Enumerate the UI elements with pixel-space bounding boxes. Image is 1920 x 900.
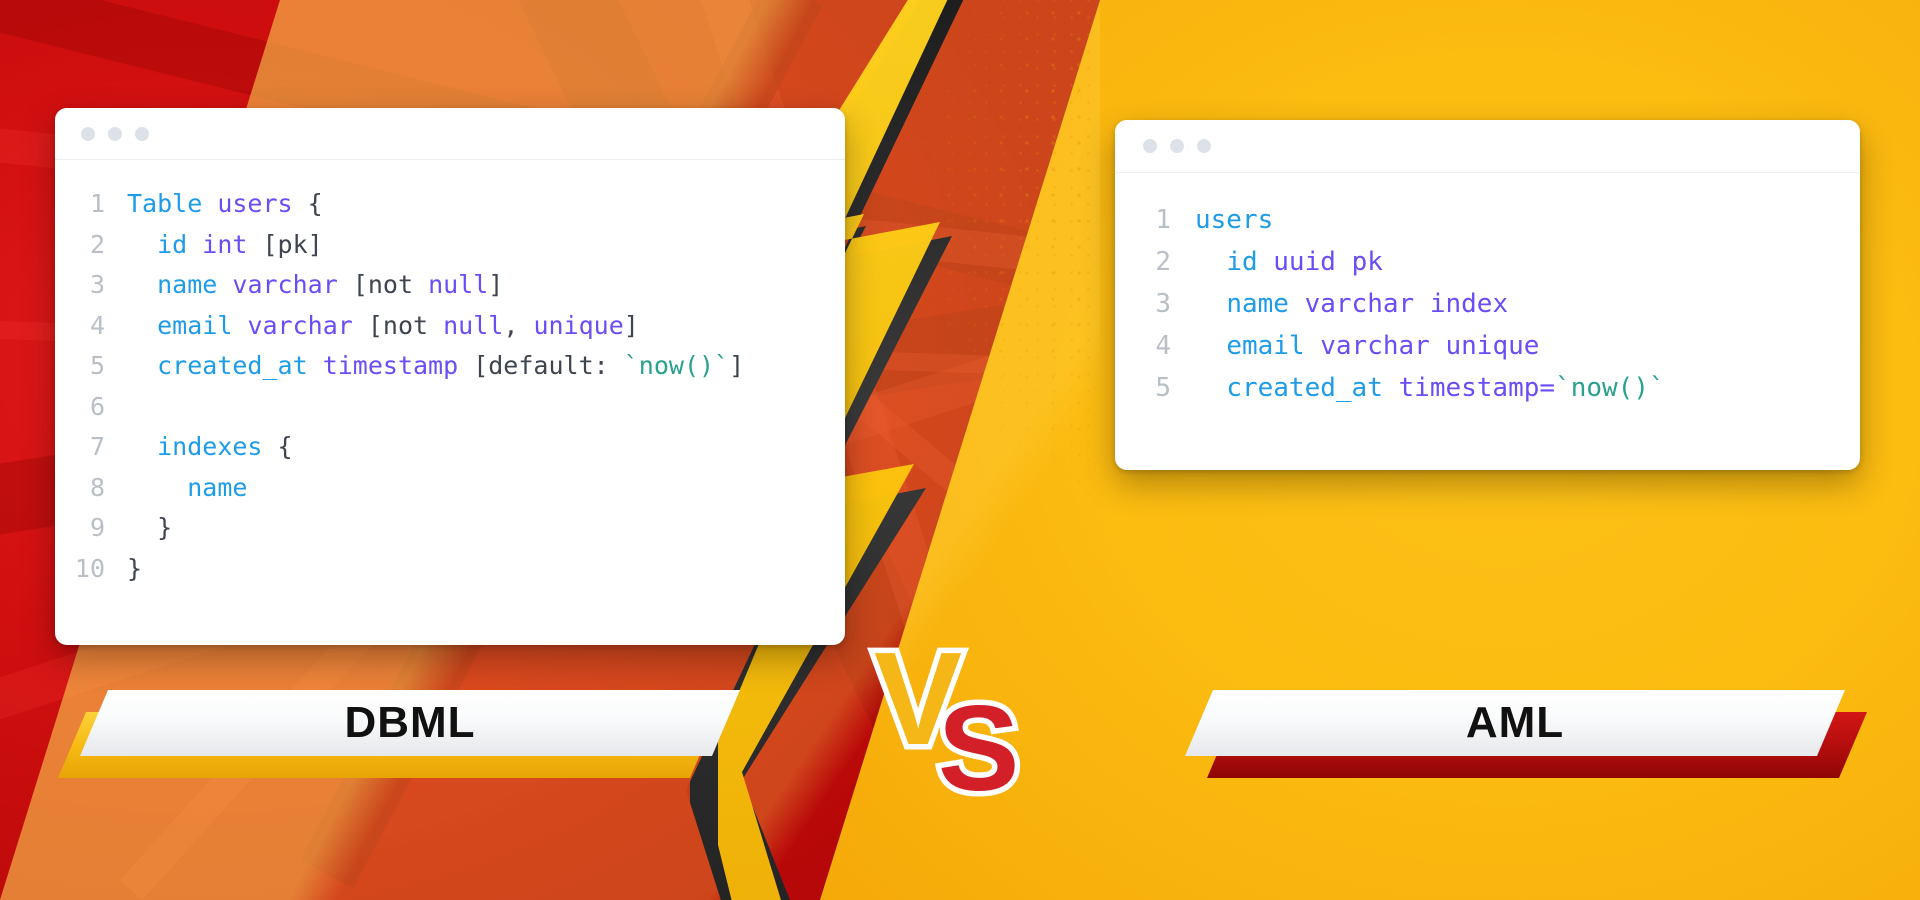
line-number: 3	[55, 265, 127, 306]
code-token	[1195, 247, 1226, 277]
line-number: 4	[55, 306, 127, 347]
code-token: varchar	[1305, 289, 1415, 319]
code-token: pk	[278, 230, 308, 259]
code-line-content: name	[127, 468, 247, 509]
code-token: [	[338, 270, 368, 299]
code-line-content: created_at timestamp [default: `now()`]	[127, 346, 744, 387]
code-token	[1305, 331, 1321, 361]
code-token	[1289, 289, 1305, 319]
code-line-content: }	[127, 549, 142, 590]
line-number: 10	[55, 549, 127, 590]
code-token	[1195, 373, 1226, 403]
code-token: ]	[308, 230, 323, 259]
code-token	[1383, 373, 1399, 403]
code-token: name	[187, 473, 247, 502]
code-token	[187, 230, 202, 259]
aml-window-titlebar	[1115, 120, 1860, 173]
code-token: null	[428, 270, 488, 299]
code-line: 9 }	[55, 508, 845, 549]
code-token: ,	[503, 311, 533, 340]
code-token	[127, 473, 187, 502]
code-line: 4 email varchar [not null, unique]	[55, 306, 845, 347]
code-line: 5 created_at timestamp [default: `now()`…	[55, 346, 845, 387]
aml-code-block[interactable]: 1users2 id uuid pk3 name varchar index4 …	[1115, 173, 1860, 431]
code-token: varchar	[1320, 331, 1430, 361]
code-token: unique	[1445, 331, 1539, 361]
code-token: `now()`	[624, 351, 729, 380]
code-token: pk	[1352, 247, 1383, 277]
code-token: [	[353, 311, 383, 340]
code-line: 6	[55, 387, 845, 428]
versus-badge: V S	[872, 622, 1062, 792]
code-line-content: id uuid pk	[1195, 241, 1383, 283]
code-token: Table	[127, 189, 202, 218]
code-line: 2 id int [pk]	[55, 225, 845, 266]
code-line: 3 name varchar [not null]	[55, 265, 845, 306]
code-token: varchar	[247, 311, 352, 340]
code-line: 2 id uuid pk	[1115, 241, 1860, 283]
aml-banner-label: AML	[1185, 690, 1845, 756]
line-number: 3	[1115, 283, 1195, 325]
code-token: {	[262, 432, 292, 461]
code-token: created_at	[157, 351, 308, 380]
dbml-window-titlebar	[55, 108, 845, 160]
code-token	[202, 189, 217, 218]
window-dot-close-icon[interactable]	[1143, 139, 1157, 153]
line-number: 5	[55, 346, 127, 387]
code-token	[127, 311, 157, 340]
code-token: email	[1226, 331, 1304, 361]
code-token	[127, 270, 157, 299]
line-number: 2	[55, 225, 127, 266]
window-dot-maximize-icon[interactable]	[135, 127, 149, 141]
code-token: int	[202, 230, 247, 259]
code-token: index	[1430, 289, 1508, 319]
comparison-graphic: 1Table users {2 id int [pk]3 name varcha…	[0, 0, 1920, 900]
code-token	[232, 311, 247, 340]
line-number: 1	[1115, 199, 1195, 241]
code-line-content: users	[1195, 199, 1273, 241]
code-token: indexes	[157, 432, 262, 461]
code-token: created_at	[1226, 373, 1383, 403]
line-number: 6	[55, 387, 127, 428]
code-line-content: name varchar [not null]	[127, 265, 503, 306]
dbml-code-window: 1Table users {2 id int [pk]3 name varcha…	[55, 108, 845, 645]
code-line-content: }	[127, 508, 172, 549]
dbml-label-banner: DBML	[80, 690, 740, 756]
code-line-content: indexes {	[127, 427, 293, 468]
code-line: 1Table users {	[55, 184, 845, 225]
line-number: 8	[55, 468, 127, 509]
code-line: 10}	[55, 549, 845, 590]
line-number: 7	[55, 427, 127, 468]
code-token: null	[443, 311, 503, 340]
code-line-content: created_at timestamp=`now()`	[1195, 367, 1665, 409]
code-token: timestamp=	[1399, 373, 1556, 403]
code-token: ]	[488, 270, 503, 299]
dbml-code-block[interactable]: 1Table users {2 id int [pk]3 name varcha…	[55, 160, 845, 611]
code-line: 5 created_at timestamp=`now()`	[1115, 367, 1860, 409]
code-token	[308, 351, 323, 380]
aml-code-window: 1users2 id uuid pk3 name varchar index4 …	[1115, 120, 1860, 470]
code-token: email	[157, 311, 232, 340]
code-token	[1336, 247, 1352, 277]
code-line: 1users	[1115, 199, 1860, 241]
code-token	[217, 270, 232, 299]
code-token: users	[217, 189, 292, 218]
window-dot-close-icon[interactable]	[81, 127, 95, 141]
code-token	[127, 351, 157, 380]
code-token: ]	[624, 311, 639, 340]
code-token: }	[127, 513, 172, 542]
code-token: uuid	[1273, 247, 1336, 277]
code-token: ]	[729, 351, 744, 380]
code-token	[1258, 247, 1274, 277]
code-line: 8 name	[55, 468, 845, 509]
code-token: not	[383, 311, 443, 340]
code-token	[127, 432, 157, 461]
code-token: name	[157, 270, 217, 299]
code-token: {	[293, 189, 323, 218]
code-token: [default:	[458, 351, 624, 380]
code-token: id	[1226, 247, 1257, 277]
code-line-content: email varchar unique	[1195, 325, 1539, 367]
window-dot-maximize-icon[interactable]	[1197, 139, 1211, 153]
code-token	[1195, 289, 1226, 319]
line-number: 2	[1115, 241, 1195, 283]
line-number: 5	[1115, 367, 1195, 409]
code-line: 7 indexes {	[55, 427, 845, 468]
code-token: not	[368, 270, 428, 299]
code-token: varchar	[232, 270, 337, 299]
code-token	[1414, 289, 1430, 319]
code-line-content: name varchar index	[1195, 283, 1508, 325]
versus-letter-s: S	[938, 680, 1019, 816]
dbml-banner-label: DBML	[80, 690, 740, 756]
line-number: 9	[55, 508, 127, 549]
code-token	[1430, 331, 1446, 361]
code-line-content: id int [pk]	[127, 225, 323, 266]
code-token	[1195, 331, 1226, 361]
line-number: 1	[55, 184, 127, 225]
code-line-content: email varchar [not null, unique]	[127, 306, 639, 347]
code-token: name	[1226, 289, 1289, 319]
code-line: 4 email varchar unique	[1115, 325, 1860, 367]
window-dot-minimize-icon[interactable]	[1170, 139, 1184, 153]
code-token: `now()`	[1555, 373, 1665, 403]
window-dot-minimize-icon[interactable]	[108, 127, 122, 141]
code-token	[127, 230, 157, 259]
code-token: users	[1195, 205, 1273, 235]
code-token: timestamp	[323, 351, 458, 380]
code-token: }	[127, 554, 142, 583]
aml-label-banner: AML	[1185, 690, 1845, 756]
code-token: unique	[533, 311, 623, 340]
code-line-content: Table users {	[127, 184, 323, 225]
code-token: [	[247, 230, 277, 259]
code-line: 3 name varchar index	[1115, 283, 1860, 325]
line-number: 4	[1115, 325, 1195, 367]
code-token: id	[157, 230, 187, 259]
